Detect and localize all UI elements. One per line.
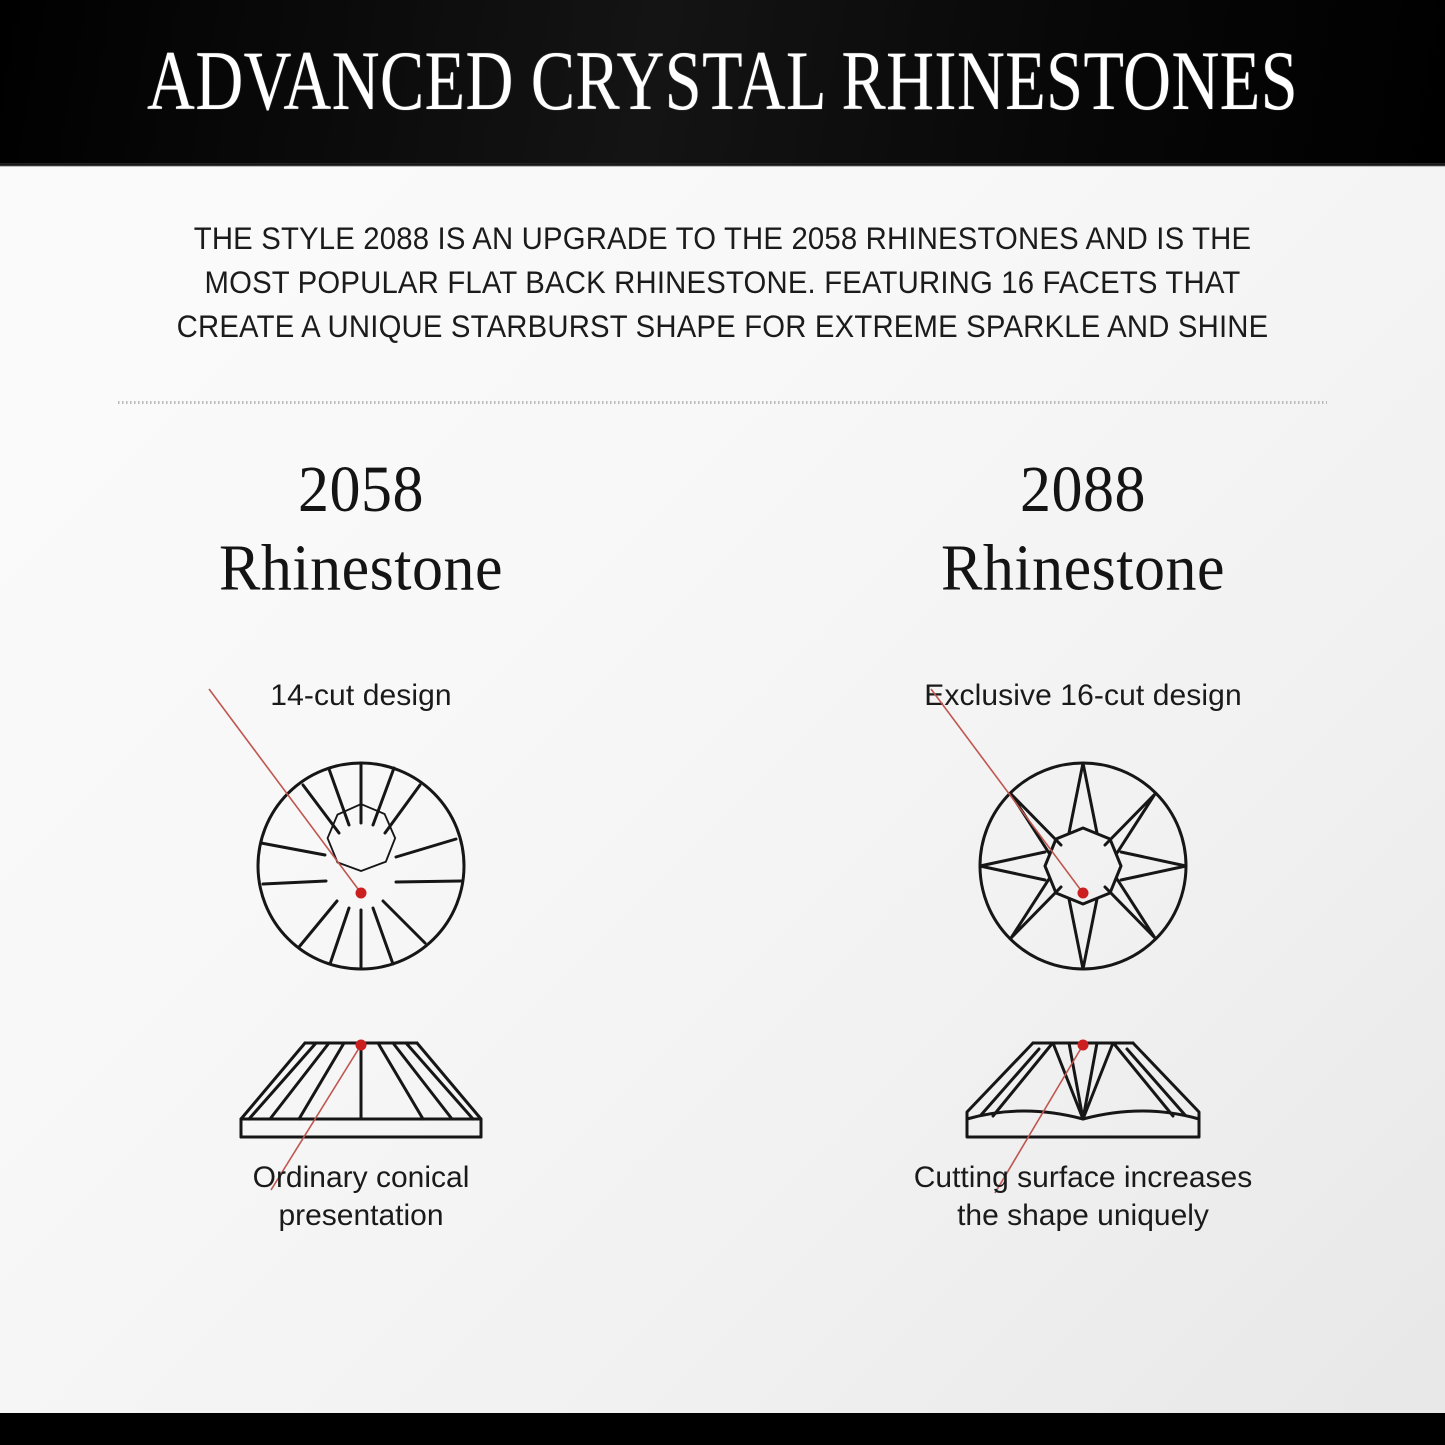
pointer-dot-2058-side [356,1040,367,1051]
comparison-columns: 2058 Rhinestone 14-cut design [0,455,1445,1235]
rhinestone-side-view-starburst-icon [933,1015,1233,1145]
header-banner: ADVANCED CRYSTAL RHINESTONES [0,0,1445,163]
side-view-wrapper-2088 [722,1015,1444,1145]
pointer-dot-2088-top [1078,888,1089,899]
header-underline-divider [0,163,1445,167]
side-view-wrapper-2058 [0,1015,722,1145]
rhinestone-top-view-16-cut-starburst-icon [933,721,1233,971]
caption-2088: Cutting surface increases the shape uniq… [722,1159,1444,1235]
pointer-dot-2058-top [356,888,367,899]
rhinestone-side-view-conical-icon [211,1015,511,1145]
footer-bar [0,1413,1445,1445]
column-title-2058: 2058 Rhinestone [0,451,722,608]
intro-paragraph: THE STYLE 2088 IS AN UPGRADE TO THE 2058… [155,216,1291,348]
top-view-wrapper-2058 [0,721,722,971]
cut-label-2088: Exclusive 16-cut design [722,679,1444,713]
column-word-2058: Rhinestone [0,529,722,607]
rhinestone-top-view-14-cut-icon [211,721,511,971]
column-2058: 2058 Rhinestone 14-cut design [0,455,722,1235]
infographic-page: ADVANCED CRYSTAL RHINESTONES THE STYLE 2… [0,0,1445,1445]
column-number-2088: 2088 [722,451,1444,529]
pointer-line-2088-top [931,689,1083,893]
top-view-wrapper-2088 [722,721,1444,971]
page-title: ADVANCED CRYSTAL RHINESTONES [147,33,1298,131]
cut-label-2058: 14-cut design [0,679,722,713]
dotted-divider [118,401,1327,404]
column-2088: 2088 Rhinestone Exclusive 16-cut design [722,455,1444,1235]
caption-2058: Ordinary conical presentation [0,1159,722,1235]
column-title-2088: 2088 Rhinestone [722,451,1444,608]
pointer-dot-2088-side [1078,1040,1089,1051]
column-number-2058: 2058 [0,451,722,529]
column-word-2088: Rhinestone [722,529,1444,607]
